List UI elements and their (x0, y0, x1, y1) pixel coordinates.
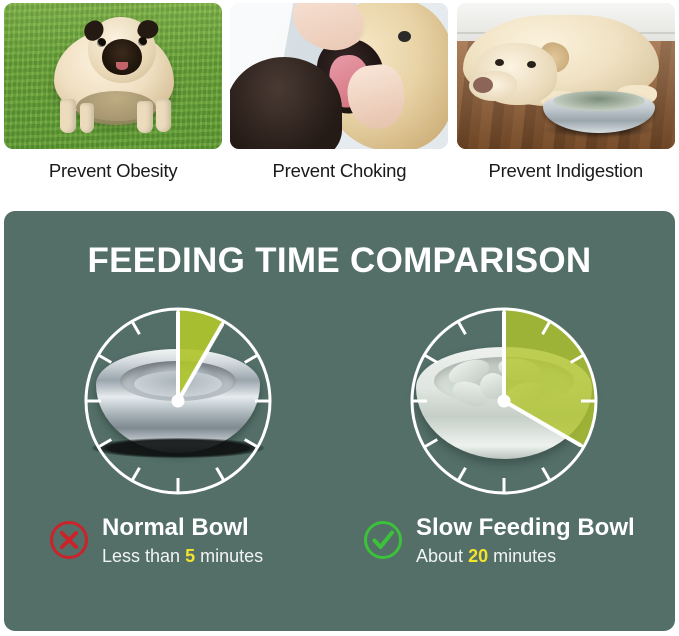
panel-title: FEEDING TIME COMPARISON (4, 241, 675, 281)
legend-sub-value: 5 (185, 546, 195, 566)
legend-title-normal-bowl: Normal Bowl (102, 515, 263, 541)
legend-normal-bowl: Normal Bowl Less than 5 minutes (48, 515, 263, 569)
legend-sub-slow-feeding-bowl: About 20 minutes (416, 544, 635, 568)
clock-dial-normal (68, 291, 288, 507)
dial-normal-bowl (68, 291, 288, 507)
benefit-card-indigestion: Prevent Indigestion (453, 0, 679, 182)
legend-sub-prefix: About (416, 546, 463, 566)
benefit-card-choking: Prevent Choking (226, 0, 452, 182)
legend-sub-normal-bowl: Less than 5 minutes (102, 544, 263, 568)
dial-hub (172, 395, 185, 408)
legend-sub-value: 20 (468, 546, 488, 566)
dial-hub (498, 395, 511, 408)
legend-sub-suffix: minutes (200, 546, 263, 566)
fat-pug-on-grass-photo (4, 3, 222, 149)
benefits-strip: Prevent Obesity Prevent Choking (0, 0, 679, 182)
benefit-caption-choking: Prevent Choking (273, 160, 407, 182)
legend-title-slow-feeding-bowl: Slow Feeding Bowl (416, 515, 635, 541)
vet-checking-dog-mouth-photo (230, 3, 448, 149)
benefit-caption-obesity: Prevent Obesity (49, 160, 178, 182)
check-circle-icon (362, 519, 404, 561)
dials-row (4, 291, 675, 507)
labrador-by-bowl-photo (457, 3, 675, 149)
x-circle-icon (48, 519, 90, 561)
legend-sub-suffix: minutes (493, 546, 556, 566)
benefit-caption-indigestion: Prevent Indigestion (488, 160, 643, 182)
legend-sub-prefix: Less than (102, 546, 180, 566)
clock-dial-slow (394, 291, 614, 507)
legend-row: Normal Bowl Less than 5 minutes Slow Fee… (4, 515, 675, 593)
legend-slow-feeding-bowl: Slow Feeding Bowl About 20 minutes (362, 515, 635, 569)
feeding-time-comparison-panel: FEEDING TIME COMPARISON (4, 211, 675, 631)
dial-slow-feeding-bowl (394, 291, 614, 507)
benefit-card-obesity: Prevent Obesity (0, 0, 226, 182)
